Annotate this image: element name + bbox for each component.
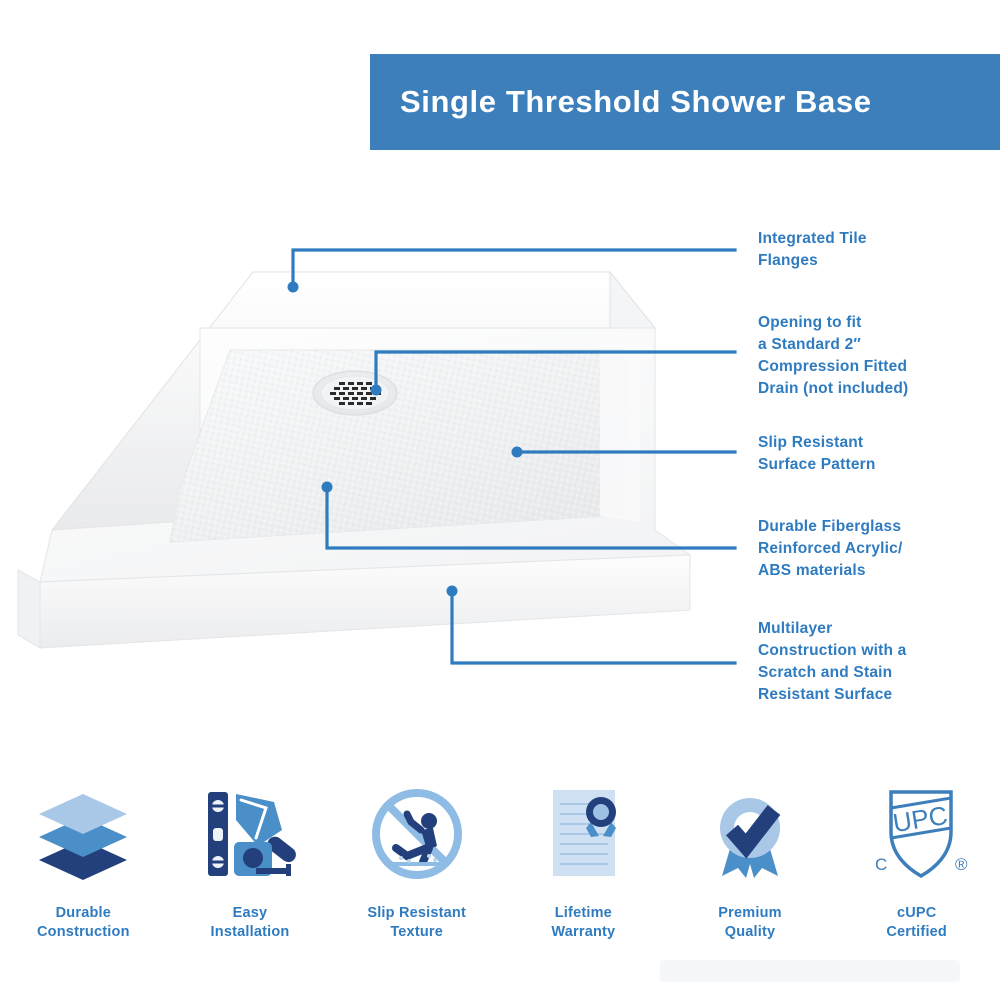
callout-line: Opening to fit <box>758 312 1000 334</box>
feature-durable-construction: Durable Construction <box>0 778 167 968</box>
upc-shield-icon: UPC C ® <box>861 778 973 890</box>
callout-line: Drain (not included) <box>758 378 1000 400</box>
feature-premium-quality: Premium Quality <box>667 778 834 968</box>
callout-line: Surface Pattern <box>758 454 1000 476</box>
layers-icon <box>27 778 139 890</box>
callout-line: Compression Fitted <box>758 356 1000 378</box>
callout-durable-materials: Durable Fiberglass Reinforced Acrylic/ A… <box>758 516 1000 582</box>
check-rosette-icon <box>694 778 806 890</box>
callout-line: Integrated Tile <box>758 228 1000 250</box>
feature-slip-resistant: Slip Resistant Texture <box>333 778 500 968</box>
callout-multilayer-construction: Multilayer Construction with a Scratch a… <box>758 618 1000 706</box>
callout-line: Flanges <box>758 250 1000 272</box>
leader-line-drain-opening <box>376 352 735 390</box>
callout-line: Multilayer <box>758 618 1000 640</box>
feature-strip: Durable Construction Easy Inst <box>0 778 1000 968</box>
feature-label: Easy Installation <box>211 904 290 942</box>
callout-line: Slip Resistant <box>758 432 1000 454</box>
certificate-icon <box>527 778 639 890</box>
leader-dot-slip-resistant-surface-pattern <box>512 447 523 458</box>
trowel-level-icon <box>194 778 306 890</box>
leader-line-multilayer-construction <box>452 591 735 663</box>
callout-line: Durable Fiberglass <box>758 516 1000 538</box>
callout-integrated-tile-flanges: Integrated Tile Flanges <box>758 228 1000 272</box>
feature-cupc-certified: UPC C ® cUPC Certified <box>833 778 1000 968</box>
leader-dot-drain-opening <box>371 385 382 396</box>
callout-line: a Standard 2″ <box>758 334 1000 356</box>
feature-label: Durable Construction <box>37 904 130 942</box>
leader-dot-multilayer-construction <box>447 586 458 597</box>
callout-line: Reinforced Acrylic/ <box>758 538 1000 560</box>
callout-drain-opening: Opening to fit a Standard 2″ Compression… <box>758 312 1000 400</box>
feature-label: Premium Quality <box>718 904 781 942</box>
leader-line-durable-materials <box>327 487 735 548</box>
feature-lifetime-warranty: Lifetime Warranty <box>500 778 667 968</box>
leader-line-integrated-tile-flanges <box>293 250 735 287</box>
no-slip-icon <box>361 778 473 890</box>
feature-label: Lifetime Warranty <box>551 904 615 942</box>
feature-easy-installation: Easy Installation <box>167 778 334 968</box>
callout-slip-resistant-surface-pattern: Slip Resistant Surface Pattern <box>758 432 1000 476</box>
feature-label: Slip Resistant Texture <box>367 904 466 942</box>
callout-line: ABS materials <box>758 560 1000 582</box>
leader-dot-durable-materials <box>322 482 333 493</box>
svg-text:®: ® <box>955 855 968 874</box>
callout-line: Scratch and Stain <box>758 662 1000 684</box>
callout-line: Construction with a <box>758 640 1000 662</box>
infographic-page: Single Threshold Shower Base <box>0 0 1000 1000</box>
svg-text:C: C <box>875 855 887 874</box>
leader-dot-integrated-tile-flanges <box>288 282 299 293</box>
feature-label: cUPC Certified <box>886 904 947 942</box>
callout-line: Resistant Surface <box>758 684 1000 706</box>
